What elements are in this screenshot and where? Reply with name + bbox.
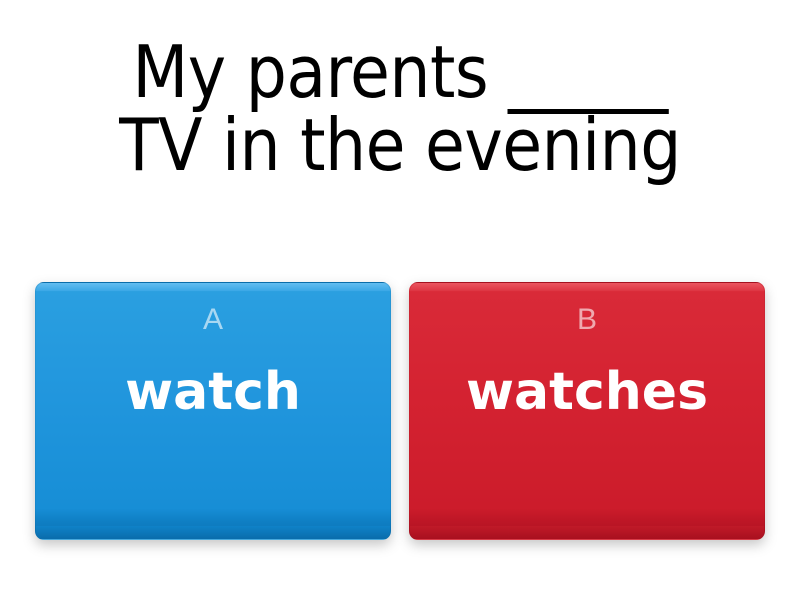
answer-letter-b: B [577, 305, 597, 335]
quiz-root: My parents _____TV in the evening A watc… [0, 0, 800, 600]
answer-option-a[interactable]: A watch [35, 282, 391, 540]
question-line-1: My parents _____ [132, 30, 667, 114]
question-line-2: TV in the evening [119, 103, 681, 187]
answer-label-b: watches [452, 365, 722, 420]
question-text: My parents _____TV in the evening [18, 36, 782, 183]
answer-label-a: watch [111, 365, 315, 420]
question-block: My parents _____TV in the evening [0, 36, 800, 183]
answers-row: A watch B watches [0, 282, 800, 540]
answer-option-b[interactable]: B watches [409, 282, 765, 540]
answer-letter-a: A [203, 305, 223, 335]
answer-option-a-wrapper: A watch [35, 282, 391, 540]
answer-option-b-wrapper: B watches [409, 282, 765, 540]
